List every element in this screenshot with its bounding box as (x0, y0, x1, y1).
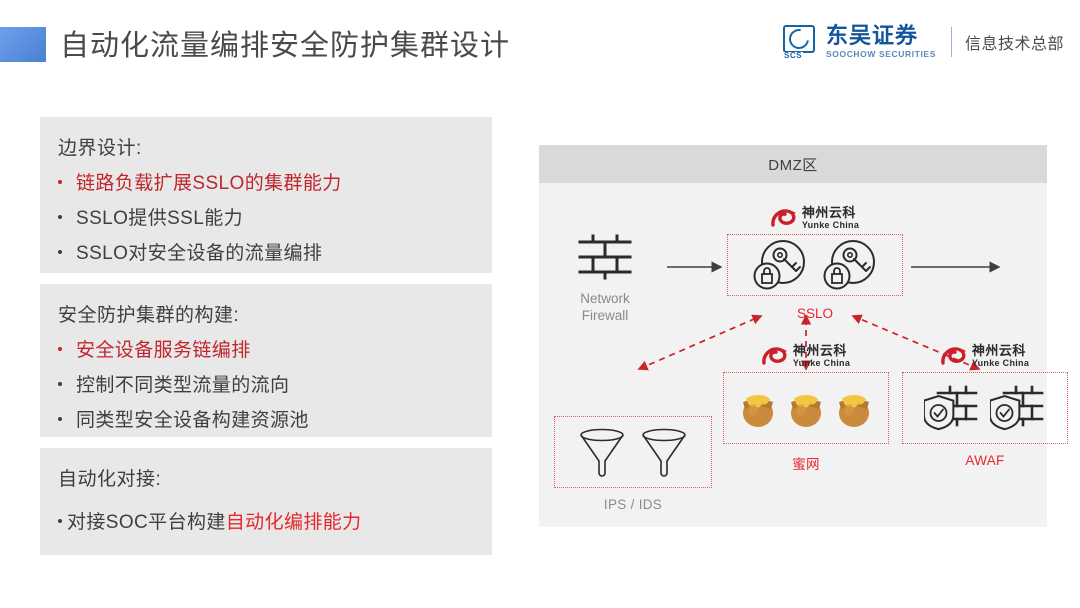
vendor-name-en: Yunke China (793, 359, 850, 368)
diagram-body: Network Firewall 神州云科 Yunke China (539, 183, 1047, 527)
honeynet-box (723, 372, 889, 444)
bullet-text-plain: 对接SOC平台构建 (67, 513, 226, 534)
vendor-name-cn: 神州云科 (793, 344, 847, 357)
bullet-dot-icon (58, 417, 62, 421)
firewall-caption-line1: Network (557, 291, 653, 308)
honey-pot-icon (834, 386, 874, 430)
node-network-firewall: Network Firewall (557, 233, 653, 325)
firewall-caption-line2: Firewall (557, 308, 653, 325)
bullet-text: SSLO提供SSL能力 (76, 209, 243, 230)
list-item: 链路负载扩展SSLO的集群能力 (58, 174, 474, 195)
node-caption: Network Firewall (557, 291, 653, 325)
list-item: 控制不同类型流量的流向 (58, 376, 474, 397)
funnel-icon (640, 425, 688, 479)
awaf-caption: AWAF (902, 453, 1068, 468)
node-honeynet-group: 神州云科 Yunke China (723, 343, 889, 473)
brand-name-en: SOOCHOW SECURITIES (826, 50, 936, 59)
content-block-automation-integration: 自动化对接: 对接SOC平台构建自动化编排能力 (40, 448, 492, 555)
vendor-logo-yunke: 神州云科 Yunke China (723, 343, 889, 369)
key-lock-icon (752, 238, 808, 292)
ips-ids-box (554, 416, 712, 488)
ips-ids-caption: IPS / IDS (554, 497, 712, 512)
list-item: 对接SOC平台构建自动化编排能力 (58, 513, 474, 534)
shield-wall-icon (990, 383, 1046, 433)
brand-divider (951, 27, 952, 57)
brand-name-cn: 东吴证券 (826, 25, 936, 47)
list-item: SSLO提供SSL能力 (58, 209, 474, 230)
node-awaf-group: 神州云科 Yunke China (902, 343, 1068, 468)
block-heading: 安全防护集群的构建: (58, 300, 474, 327)
content-block-boundary-design: 边界设计: 链路负载扩展SSLO的集群能力 SSLO提供SSL能力 SSLO对安… (40, 117, 492, 273)
vendor-name-en: Yunke China (802, 221, 859, 230)
architecture-diagram: DMZ区 (539, 145, 1047, 527)
sslo-caption: SSLO (727, 306, 903, 323)
dmz-zone-header: DMZ区 (539, 145, 1047, 183)
list-item: SSLO对安全设备的流量编排 (58, 244, 474, 265)
vendor-name-cn: 神州云科 (972, 344, 1026, 357)
bullet-dot-icon (58, 215, 62, 219)
honeynet-caption: 蜜网 (723, 453, 889, 473)
sslo-cluster-box (727, 234, 903, 296)
brand-department: 信息技术总部 (965, 30, 1064, 54)
key-lock-icon (822, 238, 878, 292)
bullet-text-emphasis: 自动化编排能力 (226, 513, 362, 534)
bullet-dot-icon (58, 382, 62, 386)
vendor-logo-yunke: 神州云科 Yunke China (727, 205, 903, 231)
yunke-swirl-icon (771, 208, 797, 228)
brand-lockup: SCS 东吴证券 SOOCHOW SECURITIES 信息技术总部 (783, 22, 1064, 62)
list-item: 同类型安全设备构建资源池 (58, 411, 474, 432)
bullet-text: 同类型安全设备构建资源池 (76, 411, 309, 432)
node-sslo-group: 神州云科 Yunke China (727, 205, 903, 323)
soochow-logo-icon: SCS (783, 25, 817, 59)
bullet-dot-icon (58, 250, 62, 254)
content-block-cluster-construction: 安全防护集群的构建: 安全设备服务链编排 控制不同类型流量的流向 同类型安全设备… (40, 284, 492, 437)
vendor-name-en: Yunke China (972, 359, 1029, 368)
bullet-dot-icon (58, 347, 62, 351)
dmz-zone-title: DMZ区 (768, 154, 818, 175)
list-item: 安全设备服务链编排 (58, 341, 474, 362)
honey-pot-icon (786, 386, 826, 430)
node-ips-ids-group: IPS / IDS (554, 379, 712, 512)
brand-mark-text: SCS (783, 52, 803, 60)
shield-wall-icon (924, 383, 980, 433)
bullet-dot-icon (58, 519, 62, 523)
block-heading: 边界设计: (58, 133, 474, 160)
brick-wall-icon (577, 233, 633, 281)
page-title: 自动化流量编排安全防护集群设计 (60, 22, 510, 64)
bullet-text: SSLO对安全设备的流量编排 (76, 244, 322, 265)
awaf-box (902, 372, 1068, 444)
header-accent-bar (0, 27, 46, 62)
bullet-text: 控制不同类型流量的流向 (76, 376, 289, 397)
block-heading: 自动化对接: (58, 464, 474, 491)
brand-names: 东吴证券 SOOCHOW SECURITIES (826, 25, 936, 59)
vendor-name-cn: 神州云科 (802, 206, 856, 219)
vendor-logo-yunke: 神州云科 Yunke China (902, 343, 1068, 369)
bullet-dot-icon (58, 180, 62, 184)
bullet-text: 安全设备服务链编排 (76, 341, 251, 362)
yunke-swirl-icon (941, 346, 967, 366)
funnel-icon (578, 425, 626, 479)
honey-pot-icon (738, 386, 778, 430)
yunke-swirl-icon (762, 346, 788, 366)
bullet-text: 链路负载扩展SSLO的集群能力 (76, 174, 342, 195)
